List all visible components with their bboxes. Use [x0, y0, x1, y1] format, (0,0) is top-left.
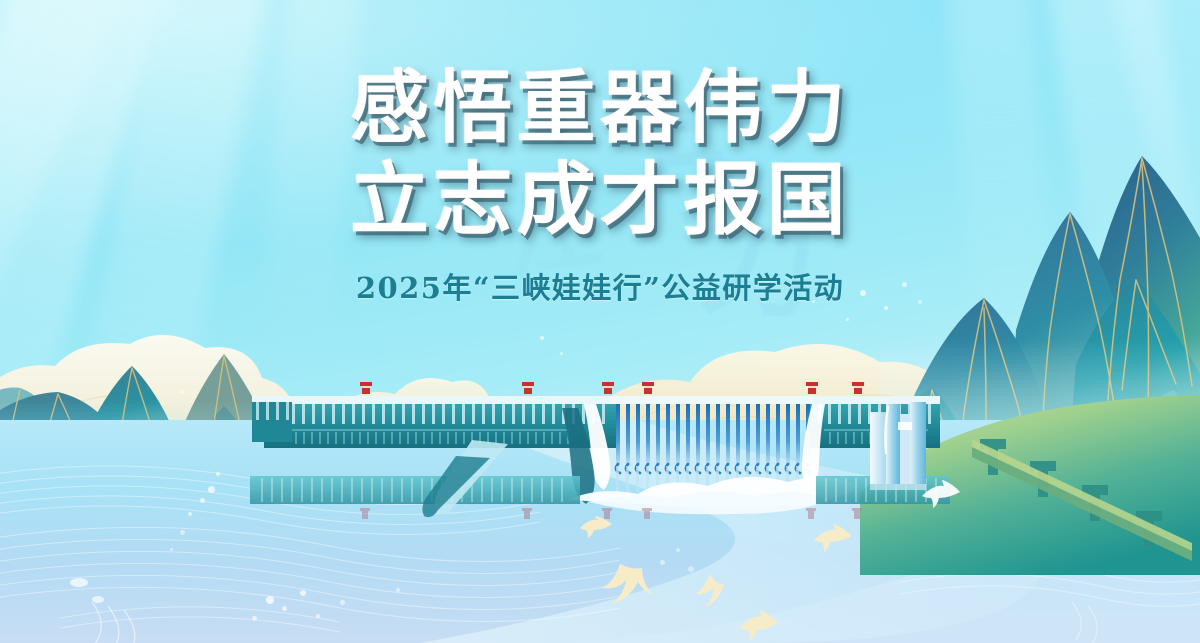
bubble [216, 472, 220, 476]
bubble [208, 486, 215, 493]
sparkle [560, 352, 563, 355]
bubble [688, 566, 694, 572]
bubble [252, 616, 257, 621]
swallow-bird [586, 556, 654, 612]
subtitle: 2025年“三峡娃娃行”公益研学活动 [0, 265, 1200, 307]
bubble [200, 498, 205, 503]
bubble [316, 614, 320, 618]
bubble [170, 548, 173, 551]
swallow-bird [578, 516, 614, 542]
dam-left-wing [252, 396, 292, 486]
sparkle [540, 336, 544, 340]
swallow-bird [736, 610, 780, 642]
bubble [266, 596, 274, 604]
bubble [396, 588, 400, 592]
bubble [70, 578, 88, 587]
gantry-crane [360, 382, 864, 394]
title-line-2: 立志成才报国 [0, 154, 1200, 246]
swallow-bird [920, 480, 962, 510]
sparkle [846, 318, 849, 321]
title-block: 感悟重器伟力 立志成才报国 2025年“三峡娃娃行”公益研学活动 [0, 62, 1200, 307]
bubble [340, 600, 345, 605]
bubble [676, 548, 680, 552]
bubble [92, 596, 104, 603]
sparkle [180, 390, 184, 394]
three-gorges-dam [250, 382, 950, 532]
bubble [282, 606, 287, 611]
swallow-bird [688, 570, 730, 612]
bubble [300, 590, 306, 596]
bubble [180, 530, 185, 535]
title-line-1: 感悟重器伟力 [0, 62, 1200, 154]
bubble [188, 512, 192, 516]
swallow-bird [810, 524, 854, 554]
bubble [660, 560, 665, 565]
poster-banner: 万 力 江 [0, 0, 1200, 643]
